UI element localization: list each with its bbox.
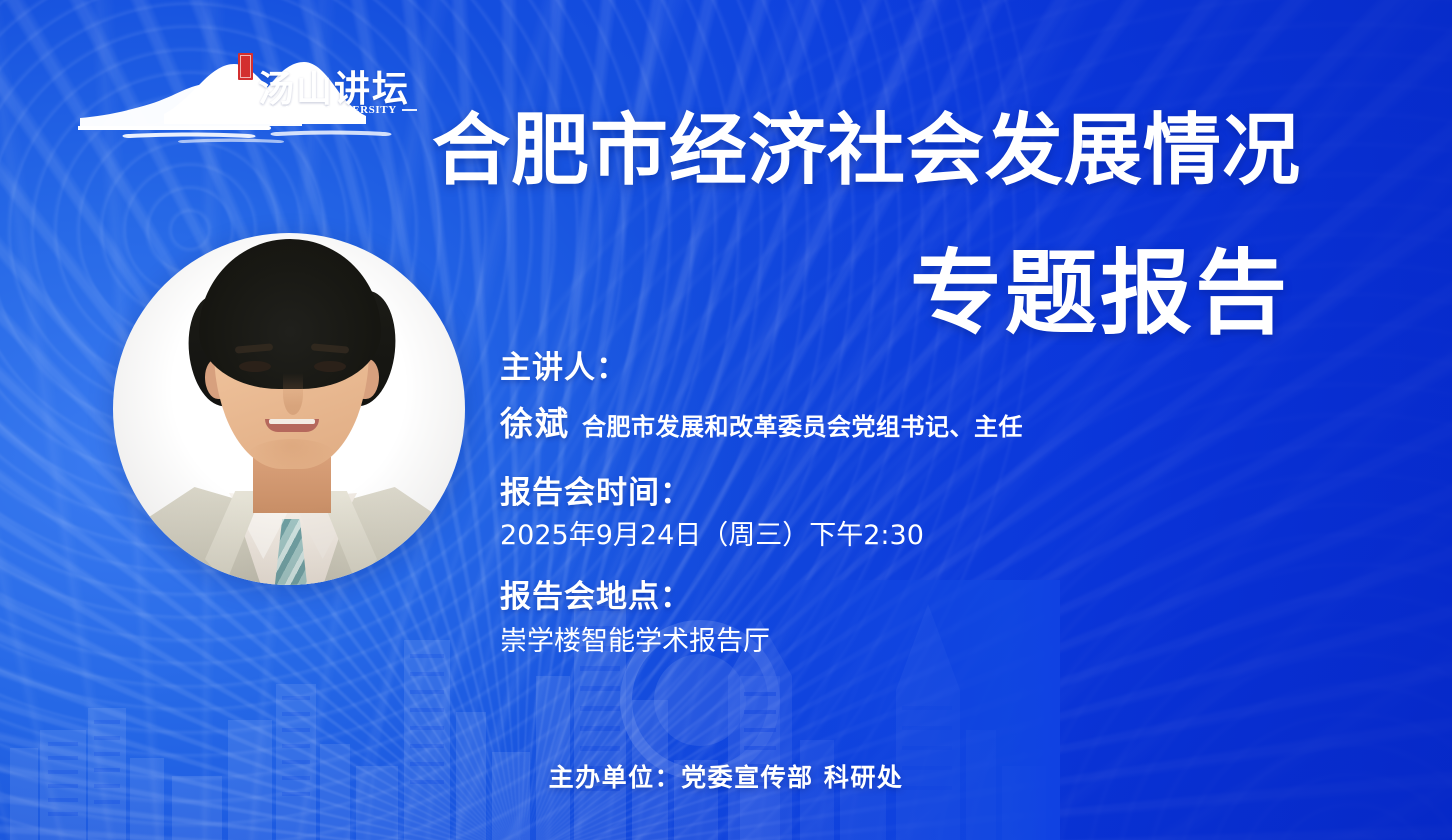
footer-organizers: 主办单位：党委宣传部 科研处 — [549, 758, 904, 794]
speaker-label: 主讲人： — [500, 348, 1220, 389]
portrait-vignette — [113, 233, 465, 585]
logo-name-en: CHAOHU UNIVERSITY — [265, 104, 397, 116]
logo-name-en-wrap: CHAOHU UNIVERSITY — [245, 104, 417, 116]
speaker-block: 主讲人： 徐斌 合肥市发展和改革委员会党组书记、主任 — [500, 348, 1220, 445]
time-value: 2025年9月24日（周三）下午2:30 — [500, 518, 1220, 553]
speaker-title: 合肥市发展和改革委员会党组书记、主任 — [582, 407, 1023, 442]
time-block: 报告会时间： 2025年9月24日（周三）下午2:30 — [500, 473, 1220, 553]
place-block: 报告会地点： 崇学楼智能学术报告厅 — [500, 577, 1220, 659]
poster-title-line2: 专题报告 — [910, 248, 1290, 340]
speaker-portrait — [113, 233, 465, 585]
footer: 主办单位：党委宣传部 科研处 — [0, 758, 1452, 794]
speaker-row: 徐斌 合肥市发展和改革委员会党组书记、主任 — [500, 397, 1220, 445]
time-label: 报告会时间： — [500, 473, 1220, 514]
poster-title-line1: 合肥市经济社会发展情况 — [432, 112, 1301, 190]
logo-rule-right — [402, 109, 417, 111]
speaker-name: 徐斌 — [500, 397, 570, 445]
event-info: 主讲人： 徐斌 合肥市发展和改革委员会党组书记、主任 报告会时间： 2025年9… — [500, 348, 1220, 659]
place-label: 报告会地点： — [500, 577, 1220, 618]
logo-rule-left — [245, 109, 260, 111]
place-value: 崇学楼智能学术报告厅 — [500, 624, 1220, 659]
red-seal-icon — [238, 53, 253, 80]
logo: 汤山讲坛 CHAOHU UNIVERSITY — [72, 52, 417, 144]
poster-root: 汤山讲坛 CHAOHU UNIVERSITY 合肥市经济社会发展情况 专题报告 — [0, 0, 1452, 840]
